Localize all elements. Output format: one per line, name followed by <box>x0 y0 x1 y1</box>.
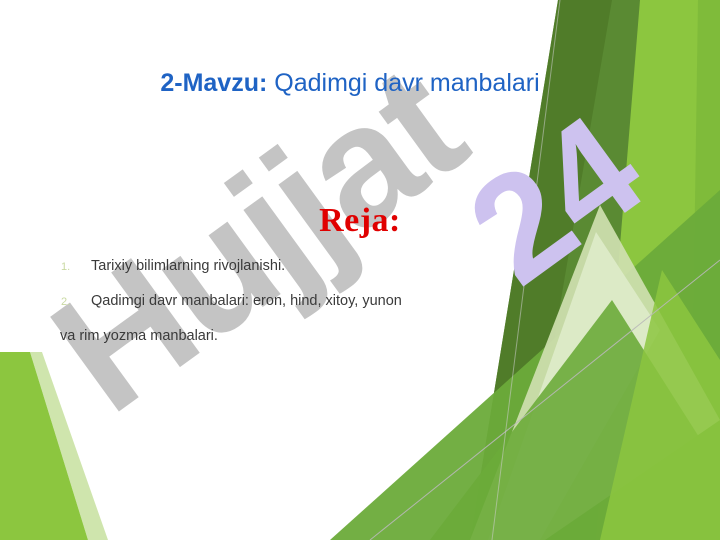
list-item: 1. Tarixiy bilimlarning rivojlanishi. <box>58 257 528 275</box>
slide-title-rest: Qadimgi davr manbalari <box>267 69 539 97</box>
slide-title-strong: 2-Mavzu: <box>160 69 267 97</box>
plan-continuation-text: va rim yozma manbalari. <box>60 328 218 344</box>
reja-heading: Reja: <box>0 202 720 240</box>
list-item-text: Qadimgi davr manbalari: eron, hind, xito… <box>91 292 402 310</box>
presentation-slide: Hujjat 24 2-Mavzu: Qadimgi davr manbalar… <box>0 0 720 540</box>
slide-title: 2-Mavzu: Qadimgi davr manbalari <box>0 68 700 98</box>
slide-content: 2-Mavzu: Qadimgi davr manbalari Reja: 1.… <box>0 0 720 540</box>
list-item-text: Tarixiy bilimlarning rivojlanishi. <box>91 257 285 275</box>
list-item-number: 1. <box>58 261 91 273</box>
list-item: 2. Qadimgi davr manbalari: eron, hind, x… <box>58 292 528 310</box>
plan-list: 1. Tarixiy bilimlarning rivojlanishi. 2.… <box>58 257 528 327</box>
list-item-number: 2. <box>58 296 91 308</box>
